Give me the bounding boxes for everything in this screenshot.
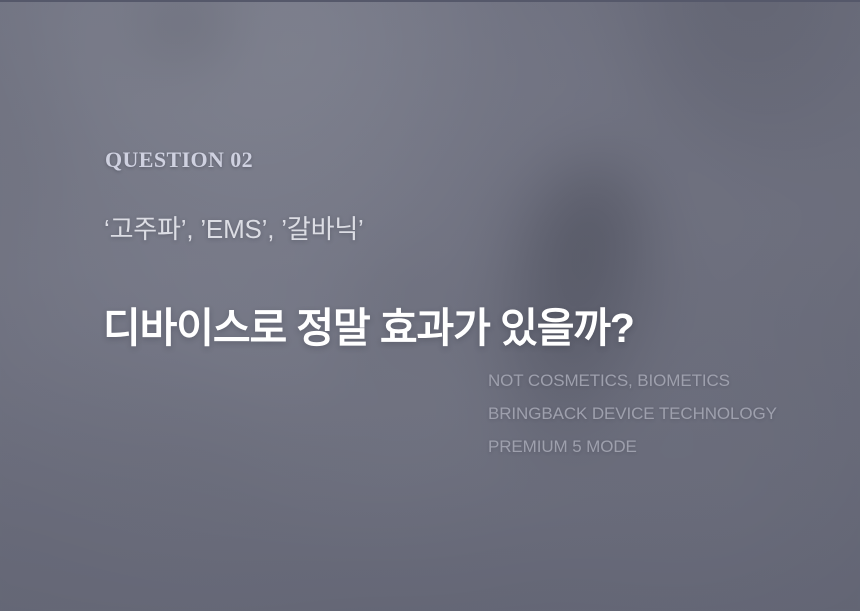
tagline-line-1: NOT COSMETICS, BIOMETICS [488, 364, 788, 397]
banner-headline: 디바이스로 정말 효과가 있을까? [103, 294, 634, 354]
tagline-line-2: BRINGBACK DEVICE TECHNOLOGY [488, 397, 788, 430]
tagline-line-3: PREMIUM 5 MODE [488, 430, 788, 463]
question-banner: QUESTION 02 ‘고주파’, ’EMS’, ’갈바닉’ 디바이스로 정말… [0, 0, 860, 611]
banner-subtitle: ‘고주파’, ’EMS’, ’갈바닉’ [104, 209, 364, 246]
banner-content: QUESTION 02 ‘고주파’, ’EMS’, ’갈바닉’ 디바이스로 정말… [0, 0, 860, 611]
question-kicker: QUESTION 02 [105, 147, 253, 173]
tagline-block: NOT COSMETICS, BIOMETICS BRINGBACK DEVIC… [488, 364, 788, 463]
